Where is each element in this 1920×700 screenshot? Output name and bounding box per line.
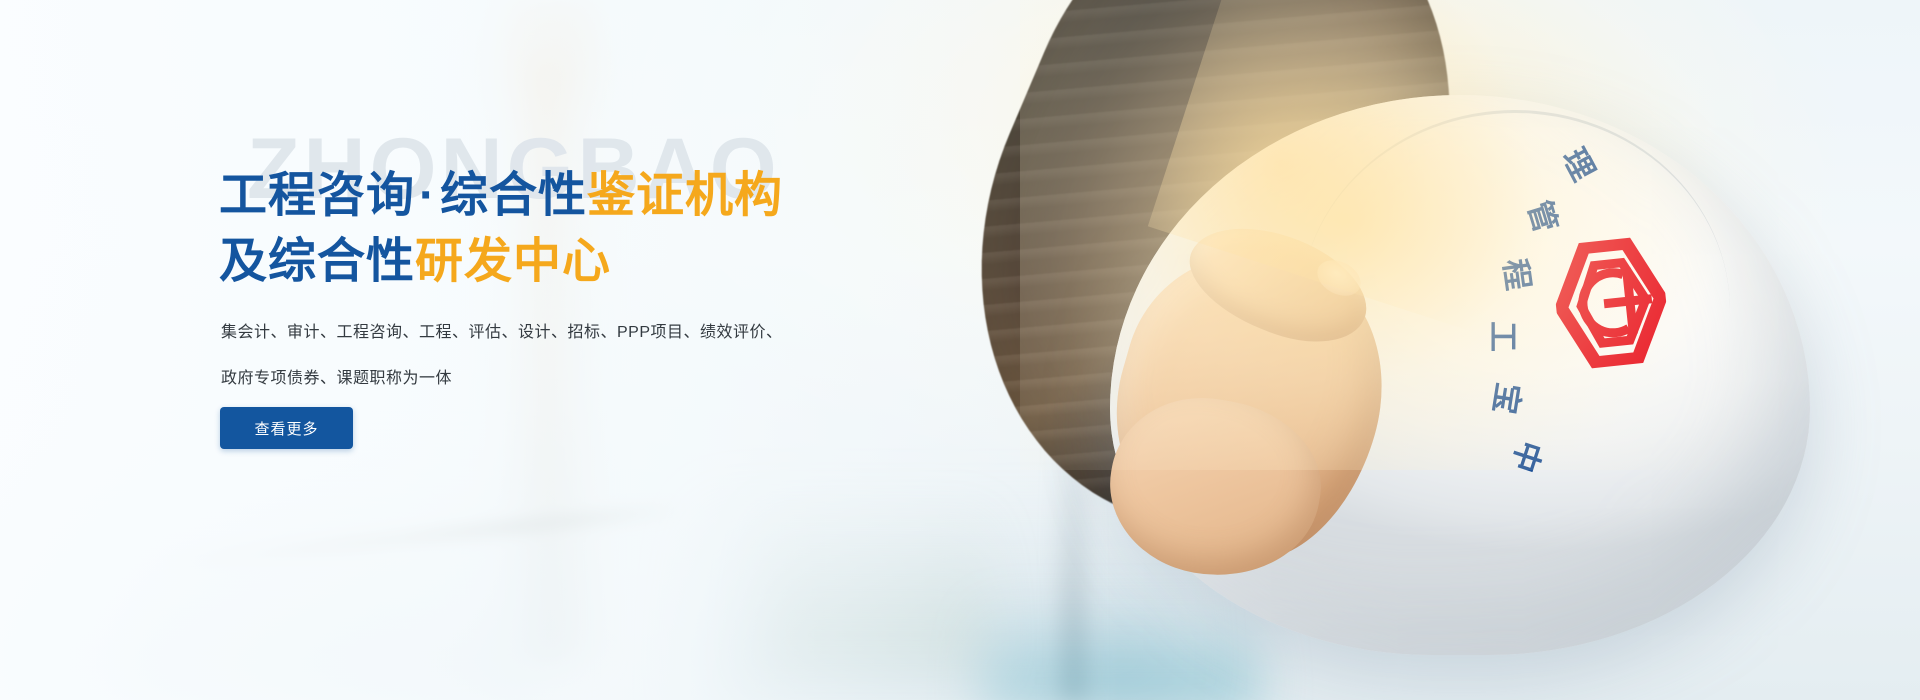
- headline-l2-accent: 研发中心: [415, 235, 611, 288]
- description-line-1: 集会计、审计、工程咨询、工程、评估、设计、招标、PPP项目、绩效评价、: [221, 310, 921, 356]
- hero-banner: 理 管 程 工 宝 中 ZHONGBAO 工程咨询·综合: [0, 0, 1920, 700]
- helmet-brand-char-6: 中: [1507, 437, 1546, 476]
- headline: 工程咨询·综合性鉴证机构 及综合性研发中心: [219, 163, 999, 295]
- hero-content: ZHONGBAO 工程咨询·综合性鉴证机构 及综合性研发中心 集会计、审计、工程…: [219, 0, 1039, 700]
- headline-l1-part-2: 综合性: [440, 169, 587, 222]
- helmet-brand-char-5: 宝: [1489, 381, 1524, 416]
- headline-line-1: 工程咨询·综合性鉴证机构: [219, 163, 999, 229]
- headline-l1-part-1: 工程咨询: [219, 169, 415, 222]
- description: 集会计、审计、工程咨询、工程、评估、设计、招标、PPP项目、绩效评价、 政府专项…: [221, 310, 921, 402]
- headline-separator-dot: ·: [415, 169, 440, 222]
- view-more-button[interactable]: 查看更多: [220, 407, 353, 449]
- helmet-brand-char-1: 理: [1558, 144, 1600, 186]
- headline-l2-part-1: 及综合性: [219, 235, 415, 288]
- description-line-2: 政府专项债券、课题职称为一体: [221, 356, 921, 402]
- headline-line-2: 及综合性研发中心: [219, 229, 999, 295]
- hexagon-logo-icon: [1556, 240, 1666, 366]
- headline-l1-accent: 鉴证机构: [587, 169, 783, 222]
